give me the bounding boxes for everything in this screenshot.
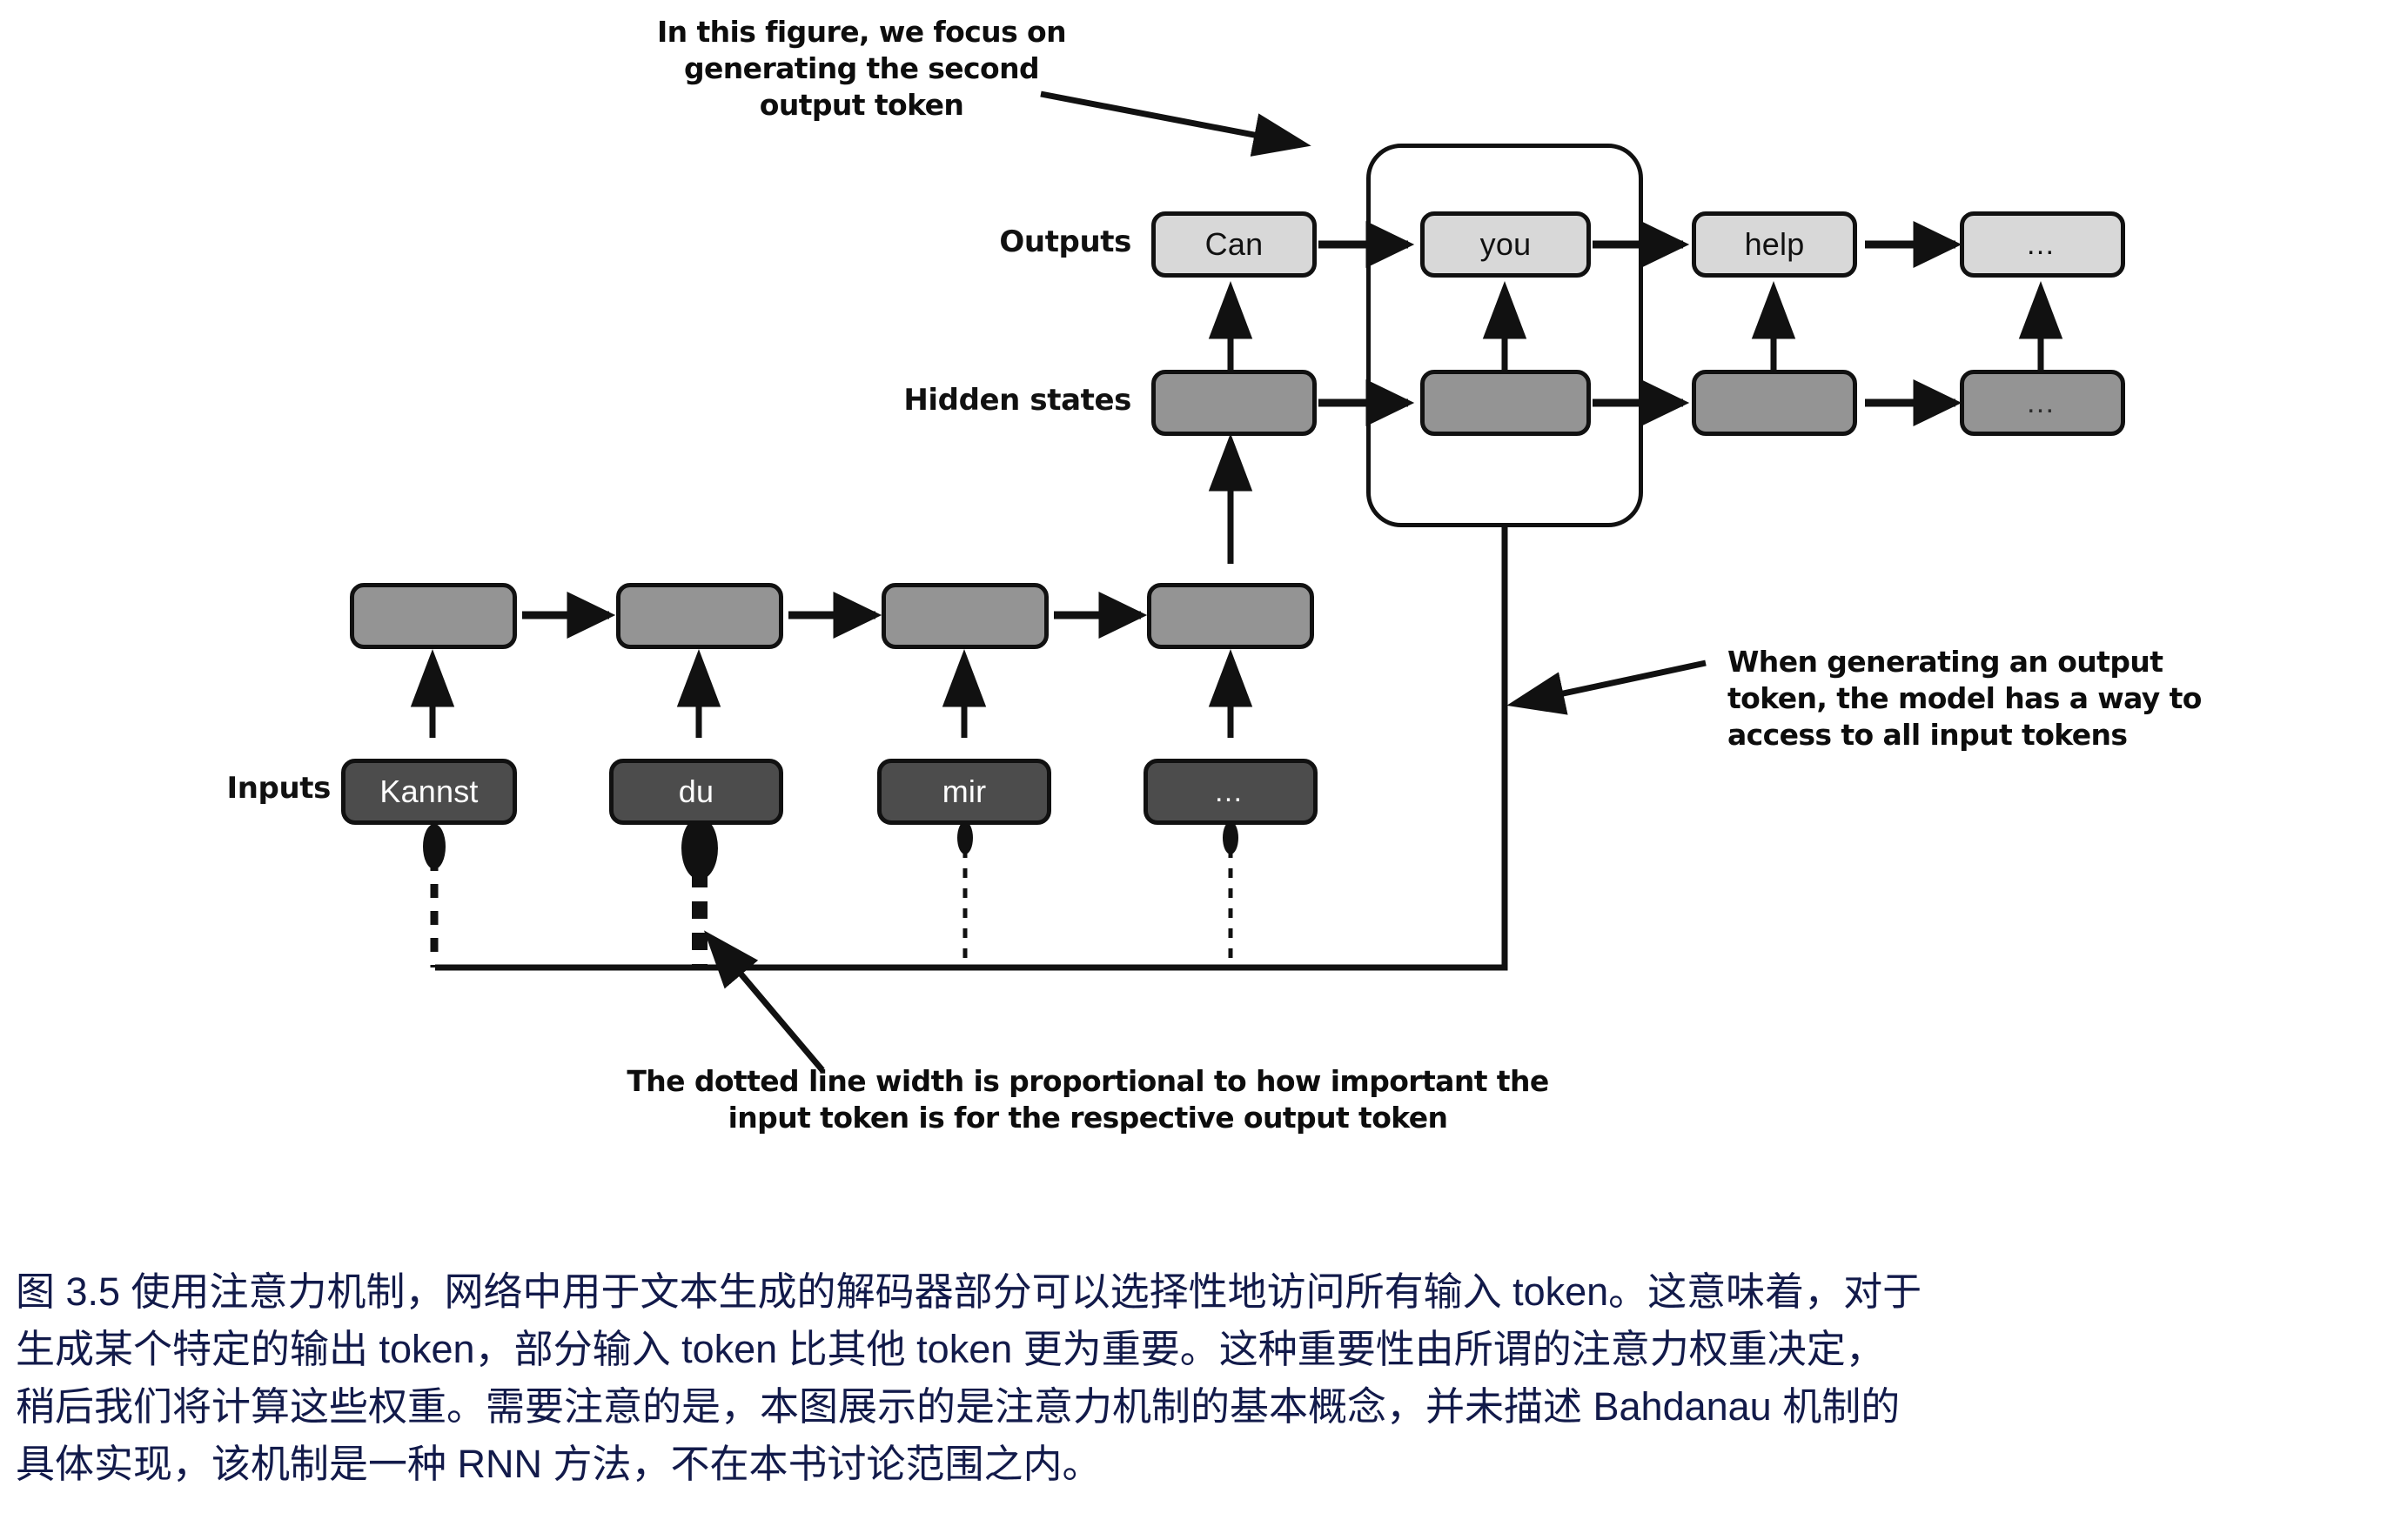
figure-caption: 图 3.5 使用注意力机制，网络中用于文本生成的解码器部分可以选择性地访问所有输… [16,1263,2365,1494]
figure-canvas: Outputs Hidden states Inputs Can you hel… [0,0,2381,1540]
attention-dot-du [681,817,718,880]
annotation-bottom: The dotted line width is proportional to… [487,1063,1688,1136]
attention-dot-kannst [423,824,446,869]
bottom-annotation-arrow [712,940,822,1070]
input-box-kannst[interactable]: Kannst [341,759,517,825]
input-box-ellipsis[interactable]: … [1144,759,1318,825]
caption-line-2: 生成某个特定的输出 token，部分输入 token 比其他 token 更为重… [16,1321,2365,1378]
attention-dot-ellipsis [1223,821,1238,854]
right-annotation-arrow [1519,663,1706,703]
hidden-box-4[interactable]: … [1960,370,2125,436]
encoder-box-4[interactable] [1147,583,1314,649]
annotation-top-line-3: output token [592,87,1131,124]
caption-line-1: 图 3.5 使用注意力机制，网络中用于文本生成的解码器部分可以选择性地访问所有输… [16,1263,2365,1321]
hidden-box-3[interactable] [1692,370,1857,436]
hidden-box-4-label: … [2026,394,2060,412]
annotation-right-line-1: When generating an output [1727,644,2337,680]
row-label-outputs: Outputs [766,224,1131,259]
hidden-box-2[interactable] [1420,370,1591,436]
focus-frame-second-output-token [1366,144,1643,527]
output-box-1[interactable]: Can [1151,211,1317,278]
row-label-inputs: Inputs [70,771,331,806]
output-box-4[interactable]: … [1960,211,2125,278]
input-box-ellipsis-label: … [1214,783,1248,800]
annotation-right: When generating an output token, the mod… [1727,644,2337,754]
attention-dot-mir [957,821,973,854]
annotation-bottom-line-2: input token is for the respective output… [487,1100,1688,1136]
attention-dotted-lines [434,848,1231,968]
input-to-encoder-arrows [433,661,1231,738]
hidden-box-1[interactable] [1151,370,1317,436]
output-box-2[interactable]: you [1420,211,1591,278]
annotation-bottom-line-1: The dotted line width is proportional to… [487,1063,1688,1100]
row-label-hidden-states: Hidden states [766,383,1131,418]
annotation-right-line-3: access to all input tokens [1727,717,2337,753]
attention-weight-dots [423,817,1238,880]
input-box-du[interactable]: du [609,759,783,825]
caption-line-4: 具体实现，该机制是一种 RNN 方法，不在本书讨论范围之内。 [16,1436,2365,1493]
output-box-3[interactable]: help [1692,211,1857,278]
caption-line-3: 稍后我们将计算这些权重。需要注意的是，本图展示的是注意力机制的基本概念，并未描述… [16,1378,2365,1436]
encoder-box-3[interactable] [882,583,1049,649]
annotation-top-line-2: generating the second [592,50,1131,87]
input-box-mir[interactable]: mir [877,759,1051,825]
annotation-top: In this figure, we focus on generating t… [592,14,1131,124]
annotation-right-line-2: token, the model has a way to [1727,680,2337,717]
output-box-4-label: … [2026,236,2060,253]
encoder-box-2[interactable] [616,583,783,649]
annotation-top-line-1: In this figure, we focus on [592,14,1131,50]
encoder-box-1[interactable] [350,583,517,649]
